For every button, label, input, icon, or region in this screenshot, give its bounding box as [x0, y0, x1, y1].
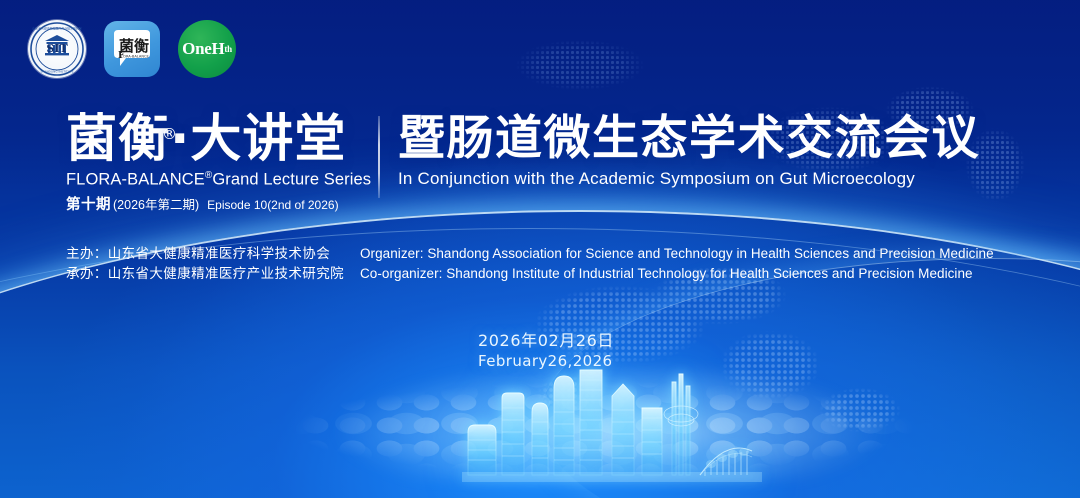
organizer-en: Organizer: Shandong Association for Scie…: [360, 244, 994, 264]
title-divider: [378, 116, 380, 198]
event-date-cn: 2026年02月26日: [478, 331, 614, 351]
logo-row: SIT 山东省大健康精准医疗产业技术研究院 SHANDONG INSTITUTE…: [28, 20, 236, 78]
event-date-block: 2026年02月26日 February26,2026: [478, 331, 614, 371]
episode-cn: 第十期: [66, 193, 111, 214]
episode-en: Episode 10(2nd of 2026): [207, 198, 338, 212]
sit-institute-seal-logo: SIT 山东省大健康精准医疗产业技术研究院 SHANDONG INSTITUTE: [28, 20, 86, 78]
co-organizer-line: 承办：山东省大健康精准医疗产业技术研究院 Co-organizer: Shand…: [66, 264, 994, 284]
city-skyline-icon: [462, 352, 762, 482]
oneh-logo-sup: th: [224, 44, 231, 54]
dotted-world-map-upper-left: [470, 20, 690, 110]
symposium-cn-title: 暨肠道微生态学术交流会议: [398, 112, 980, 166]
co-organizer-cn: 承办：山东省大健康精准医疗产业技术研究院: [66, 264, 360, 284]
co-organizer-en: Co-organizer: Shandong Institute of Indu…: [360, 264, 973, 284]
symposium-en-subtitle: In Conjunction with the Academic Symposi…: [398, 169, 980, 189]
title-left-block: 菌衡·大讲堂 ® FLORA-BALANCE®Grand Lecture Ser…: [66, 112, 366, 214]
grand-lecture-series-text: Grand Lecture Series: [212, 171, 371, 189]
lecture-series-cn-title-text: 菌衡·大讲堂: [66, 110, 346, 169]
lecture-series-cn-title: 菌衡·大讲堂 ®: [66, 112, 346, 168]
organizer-line: 主办：山东省大健康精准医疗科学技术协会 Organizer: Shandong …: [66, 244, 994, 264]
episode-cn-paren: (2026年第二期): [113, 194, 199, 213]
organizer-block: 主办：山东省大健康精准医疗科学技术协会 Organizer: Shandong …: [66, 244, 994, 284]
oneh-logo: OneHth: [178, 20, 236, 78]
episode-line: 第十期 (2026年第二期) Episode 10(2nd of 2026): [66, 193, 366, 214]
lecture-series-en-subtitle: FLORA-BALANCE®Grand Lecture Series: [66, 170, 366, 190]
registered-mark: ®: [162, 106, 178, 162]
svg-text:SIT: SIT: [46, 42, 68, 55]
flora-balance-text: FLORA-BALANCE: [66, 171, 205, 189]
svg-text:FLORA-BALANCE: FLORA-BALANCE: [119, 55, 149, 59]
organizer-cn: 主办：山东省大健康精准医疗科学技术协会: [66, 244, 360, 264]
flora-balance-app-logo: 菌衡 F FLORA-BALANCE: [104, 21, 160, 77]
title-row: 菌衡·大讲堂 ® FLORA-BALANCE®Grand Lecture Ser…: [66, 112, 980, 214]
svg-text:山东省大健康精准医疗产业技术研究院: 山东省大健康精准医疗产业技术研究院: [32, 25, 81, 30]
event-date-en: February26,2026: [478, 351, 614, 371]
conference-banner: SIT 山东省大健康精准医疗产业技术研究院 SHANDONG INSTITUTE…: [0, 0, 1080, 498]
svg-text:SHANDONG INSTITUTE: SHANDONG INSTITUTE: [41, 70, 74, 74]
title-right-block: 暨肠道微生态学术交流会议 In Conjunction with the Aca…: [398, 112, 980, 189]
oneh-logo-text: OneH: [182, 39, 224, 59]
